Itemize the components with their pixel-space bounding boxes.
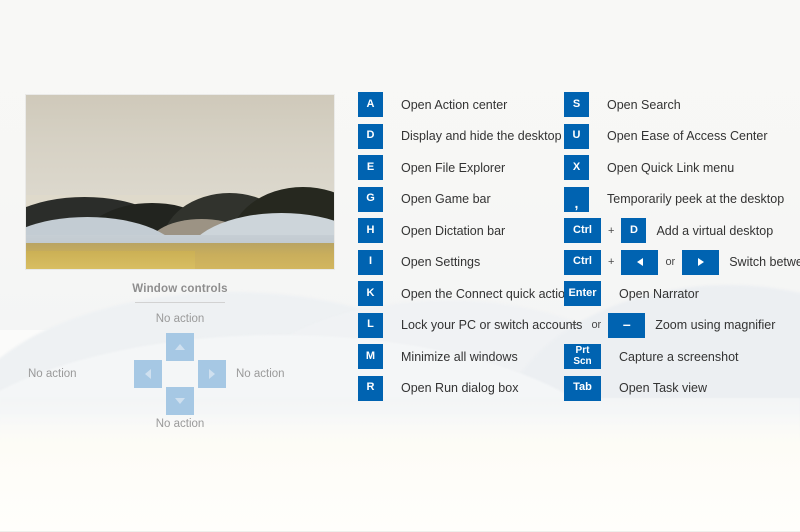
key-separator-or: or [665,256,675,268]
key-tile-l[interactable]: L [358,313,383,338]
shortcut-row: AOpen Action center [358,92,582,117]
shortcut-description: Open Search [607,98,681,112]
shortcut-row: +or–Zoom using magnifier [564,313,800,338]
key-separator-plus: + [571,319,577,331]
thumbnail-sky [26,95,334,195]
shortcut-row: UOpen Ease of Access Center [564,124,800,149]
window-controls-divider [135,302,225,303]
shortcut-description: Add a virtual desktop [656,224,773,238]
shortcut-row: MMinimize all windows [358,344,582,369]
dpad-up-button[interactable] [166,333,194,361]
down-arrow-icon [175,398,185,404]
shortcut-row: IOpen Settings [358,250,582,275]
key-tile-right-arrow[interactable] [682,250,719,275]
shortcuts-column-left: AOpen Action centerDDisplay and hide the… [358,92,582,407]
key-tile-g[interactable]: G [358,187,383,212]
right-arrow-icon [698,258,704,266]
shortcut-description: Capture a screenshot [619,350,739,364]
shortcut-row: LLock your PC or switch accounts [358,313,582,338]
dpad-left-label: No action [28,368,77,380]
shortcut-row: Ctrl+DAdd a virtual desktop [564,218,800,243]
key-tile-h[interactable]: H [358,218,383,243]
key-tile-ctrl[interactable]: Ctrl [564,250,601,275]
window-controls-section: Window controls No action No action No a… [96,283,264,423]
thumbnail-golden-grass-left [26,251,195,269]
shortcut-description: Open Action center [401,98,507,112]
shortcut-description: Open Narrator [619,287,699,301]
dpad-down-label: No action [156,418,205,430]
shortcut-row: TabOpen Task view [564,376,800,401]
shortcut-row: EnterOpen Narrator [564,281,800,306]
key-tile-e[interactable]: E [358,155,383,180]
window-controls-title: Window controls [96,283,264,295]
shortcut-description: Minimize all windows [401,350,518,364]
shortcut-description: Open Task view [619,381,707,395]
left-arrow-icon [637,258,643,266]
dpad-up-label: No action [156,313,205,325]
shortcut-row: XOpen Quick Link menu [564,155,800,180]
key-tile-ctrl[interactable]: Ctrl [564,218,601,243]
key-separator-or: or [591,319,601,331]
left-arrow-icon [145,369,151,379]
window-controls-dpad: No action No action No action No action [96,305,264,423]
shortcut-row: ROpen Run dialog box [358,376,582,401]
key-tile-r[interactable]: R [358,376,383,401]
key-separator-plus: + [608,225,614,237]
key-tile-,[interactable]: , [564,187,589,212]
shortcuts-column-right: SOpen SearchUOpen Ease of Access CenterX… [564,92,800,407]
right-arrow-icon [209,369,215,379]
key-tile-u[interactable]: U [564,124,589,149]
shortcut-description: Open Ease of Access Center [607,129,768,143]
shortcut-row: GOpen Game bar [358,187,582,212]
key-tile-k[interactable]: K [358,281,383,306]
shortcut-row: DDisplay and hide the desktop [358,124,582,149]
key-separator-plus: + [608,256,614,268]
shortcut-row: KOpen the Connect quick action [358,281,582,306]
key-tile-x[interactable]: X [564,155,589,180]
key-tile-s[interactable]: S [564,92,589,117]
shortcut-row: ,Temporarily peek at the desktop [564,187,800,212]
key-tile-tab[interactable]: Tab [564,376,601,401]
shortcut-description: Open the Connect quick action [401,287,572,301]
shortcut-row: PrtScnCapture a screenshot [564,344,800,369]
shortcut-description: Zoom using magnifier [655,318,775,332]
key-tile-a[interactable]: A [358,92,383,117]
key-tile-prt-scn[interactable]: PrtScn [564,344,601,369]
shortcut-row: EOpen File Explorer [358,155,582,180]
key-tile-i[interactable]: I [358,250,383,275]
shortcut-description: Temporarily peek at the desktop [607,192,784,206]
shortcut-description: Open Settings [401,255,480,269]
shortcut-description: Lock your PC or switch accounts [401,318,582,332]
dpad-down-button[interactable] [166,387,194,415]
key-tile-d[interactable]: D [621,218,646,243]
shortcut-description: Display and hide the desktop [401,129,562,143]
dpad-left-button[interactable] [134,360,162,388]
up-arrow-icon [175,344,185,350]
background-grass-near [0,412,800,532]
wallpaper-thumbnail[interactable] [26,95,334,269]
shortcut-description: Open Run dialog box [401,381,518,395]
shortcut-row: Ctrl+orSwitch between [564,250,800,275]
key-tile--[interactable]: – [608,313,645,338]
key-tile-m[interactable]: M [358,344,383,369]
key-tile-left-arrow[interactable] [621,250,658,275]
shortcut-description: Open File Explorer [401,161,505,175]
shortcut-description: Switch between [729,255,800,269]
key-tile-d[interactable]: D [358,124,383,149]
key-tile-enter[interactable]: Enter [564,281,601,306]
shortcut-description: Open Game bar [401,192,491,206]
shortcut-description: Open Quick Link menu [607,161,734,175]
shortcut-row: SOpen Search [564,92,800,117]
shortcut-row: HOpen Dictation bar [358,218,582,243]
shortcut-description: Open Dictation bar [401,224,505,238]
dpad-right-label: No action [236,368,285,380]
dpad-right-button[interactable] [198,360,226,388]
